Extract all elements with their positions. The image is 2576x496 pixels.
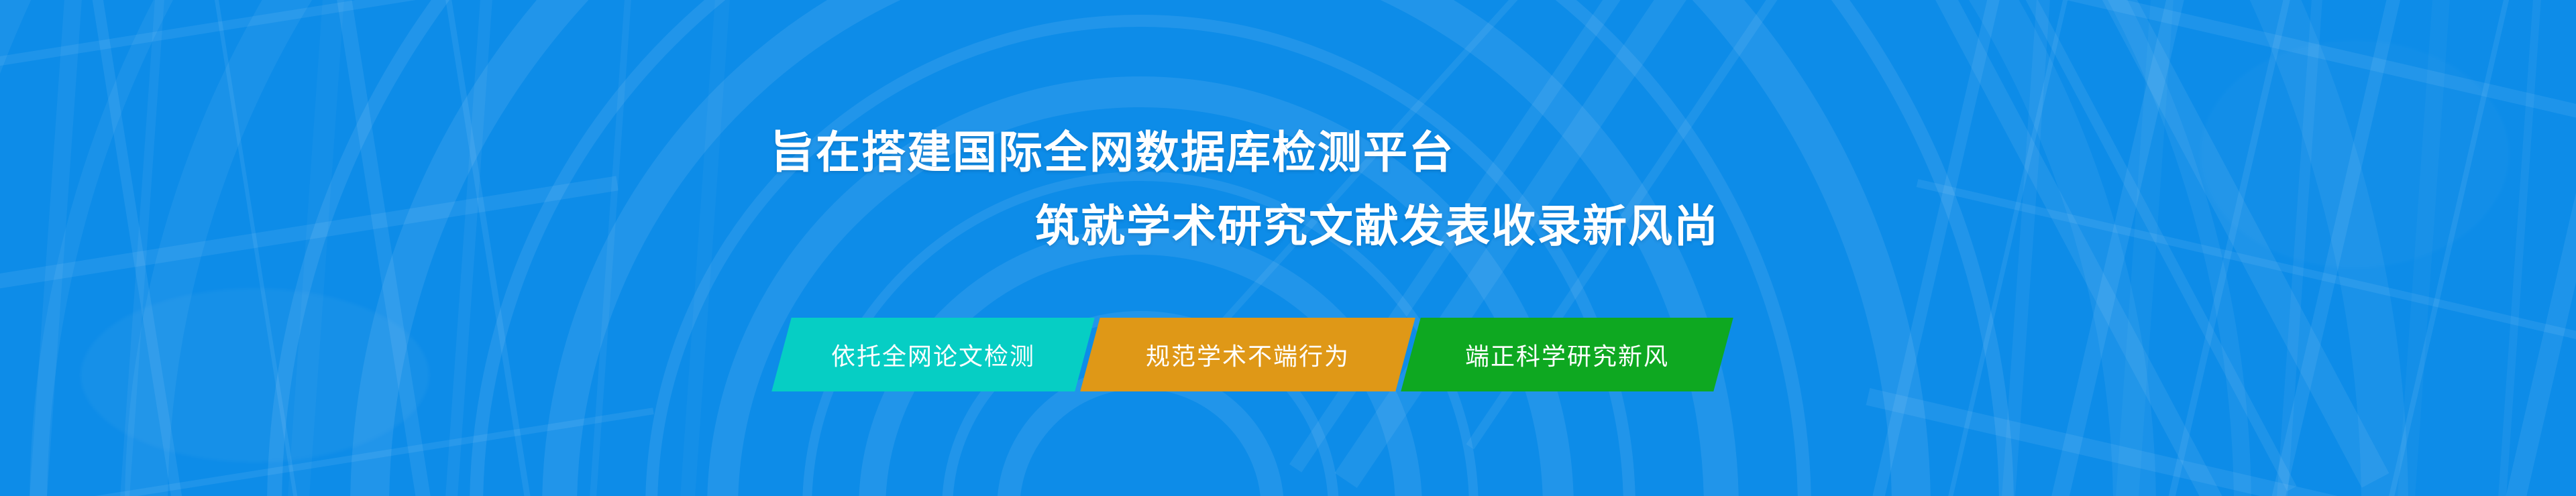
- background-blob: [80, 288, 429, 462]
- headline-line-2: 筑就学术研究文献发表收录新风尚: [0, 193, 2576, 259]
- hero-banner: 旨在搭建国际全网数据库检测平台 筑就学术研究文献发表收录新风尚 依托全网论文检测…: [0, 0, 2576, 496]
- feature-tag-label: 依托全网论文检测: [831, 337, 1035, 372]
- feature-tag-group: 依托全网论文检测 规范学术不端行为 端正科学研究新风: [782, 318, 1723, 391]
- feature-tag-misconduct[interactable]: 规范学术不端行为: [1080, 318, 1415, 391]
- headline-line-1: 旨在搭建国际全网数据库检测平台: [0, 119, 2576, 185]
- grid-line: [1866, 388, 2576, 496]
- feature-tag-label: 端正科学研究新风: [1465, 337, 1669, 372]
- feature-tag-detection[interactable]: 依托全网论文检测: [771, 318, 1094, 391]
- feature-tag-label: 规范学术不端行为: [1146, 337, 1350, 372]
- headline-block: 旨在搭建国际全网数据库检测平台 筑就学术研究文献发表收录新风尚: [0, 119, 2576, 259]
- grid-line: [0, 408, 654, 496]
- grid-line: [0, 0, 584, 105]
- feature-tag-research-ethos[interactable]: 端正科学研究新风: [1401, 318, 1733, 391]
